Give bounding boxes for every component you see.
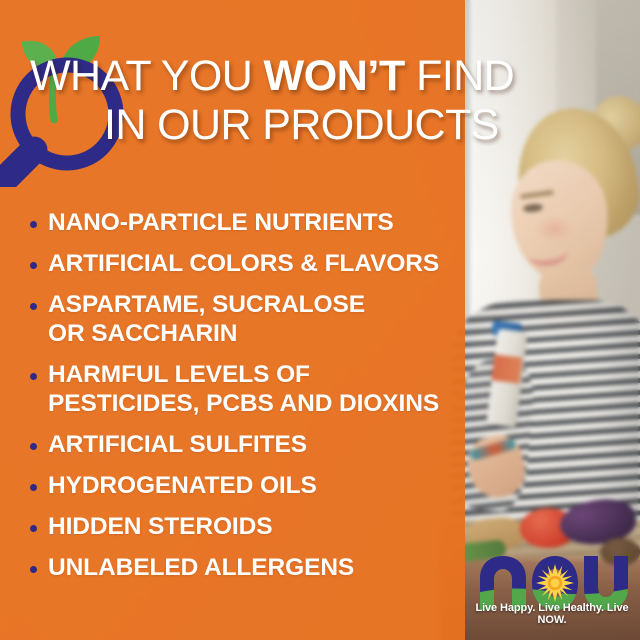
list-item: UNLABELED ALLERGENS (30, 553, 460, 582)
headline-line-1-prefix: WHAT YOU (30, 52, 264, 100)
promo-graphic: WHAT YOU WON’T FIND IN OUR PRODUCTS NANO… (0, 0, 640, 640)
list-item: ARTIFICIAL COLORS & FLAVORS (30, 249, 460, 278)
exclusions-list: NANO-PARTICLE NUTRIENTS ARTIFICIAL COLOR… (30, 208, 460, 594)
headline-emphasis-wont: WON’T (264, 52, 405, 100)
sunburst-icon (536, 564, 574, 602)
headline-line-1-suffix: FIND (405, 52, 514, 100)
bullet-dot-icon (30, 221, 37, 228)
list-item-label: ARTIFICIAL SULFITES (48, 430, 307, 459)
list-item-label: HARMFUL LEVELS OF PESTICIDES, PCBS AND D… (48, 360, 439, 418)
list-item-label: UNLABELED ALLERGENS (48, 553, 354, 582)
list-item: HIDDEN STEROIDS (30, 512, 460, 541)
list-item: ASPARTAME, SUCRALOSE OR SACCHARIN (30, 290, 460, 348)
headline-line-1: WHAT YOU WON’T FIND (30, 52, 514, 100)
headline-line-2: IN OUR PRODUCTS (30, 101, 630, 150)
list-item-label: HIDDEN STEROIDS (48, 512, 272, 541)
list-item: ARTIFICIAL SULFITES (30, 430, 460, 459)
bullet-dot-icon (30, 525, 37, 532)
list-item: HARMFUL LEVELS OF PESTICIDES, PCBS AND D… (30, 360, 460, 418)
bullet-dot-icon (30, 443, 37, 450)
list-item-label: NANO-PARTICLE NUTRIENTS (48, 208, 394, 237)
list-item-label: HYDROGENATED OILS (48, 471, 317, 500)
bullet-dot-icon (30, 373, 37, 380)
bullet-dot-icon (30, 303, 37, 310)
list-item-label: ASPARTAME, SUCRALOSE OR SACCHARIN (48, 290, 365, 348)
bullet-dot-icon (30, 262, 37, 269)
list-item: NANO-PARTICLE NUTRIENTS (30, 208, 460, 237)
brand-tagline: Live Happy. Live Healthy. Live NOW. (472, 602, 632, 626)
headline: WHAT YOU WON’T FIND IN OUR PRODUCTS (30, 52, 630, 150)
bullet-dot-icon (30, 484, 37, 491)
list-item-label: ARTIFICIAL COLORS & FLAVORS (48, 249, 439, 278)
list-item: HYDROGENATED OILS (30, 471, 460, 500)
bullet-dot-icon (30, 566, 37, 573)
